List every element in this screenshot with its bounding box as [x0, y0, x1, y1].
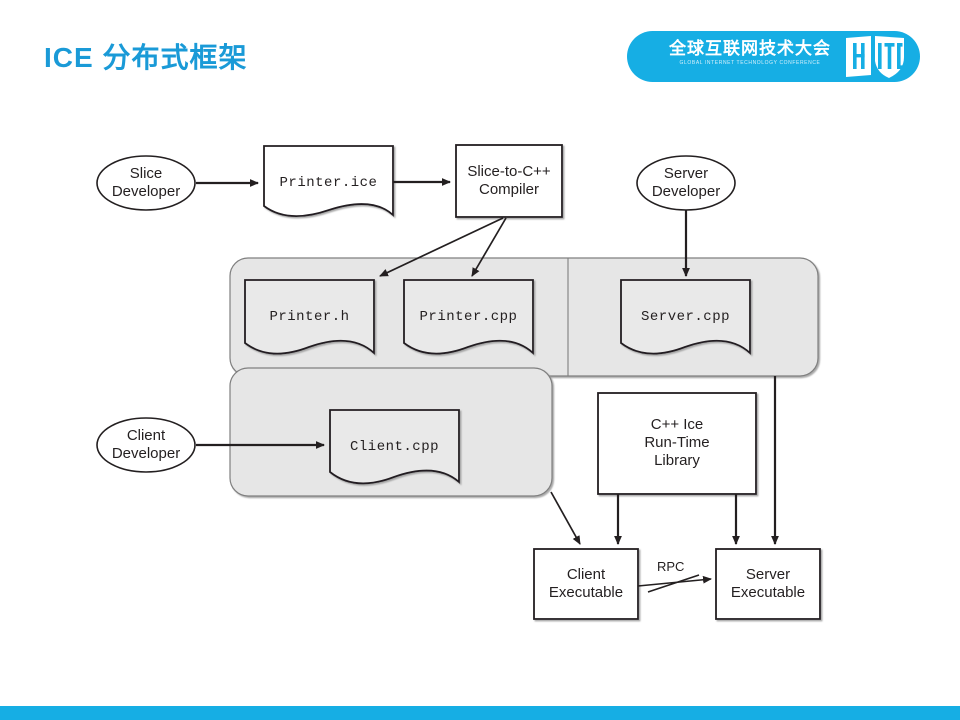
node-client-cpp — [330, 410, 459, 483]
node-server-cpp — [621, 280, 750, 354]
page-title: ICE 分布式框架 — [44, 36, 247, 76]
gitc-logo-icon — [844, 35, 906, 79]
slide-root: ICE 分布式框架 全球互联网技术大会 GLOBAL INTERNET TECH… — [0, 0, 960, 720]
edge-rpc-return — [648, 575, 699, 592]
diagram-vector-layer — [0, 100, 960, 700]
node-printer-cpp — [404, 280, 533, 354]
node-printer-h — [245, 280, 374, 354]
node-client-executable — [534, 549, 638, 619]
edge-clientgroup-clientexe — [551, 492, 580, 544]
banner-title-cn: 全球互联网技术大会 — [655, 38, 845, 59]
node-client-developer — [97, 418, 195, 472]
footer-accent-bar — [0, 706, 960, 720]
banner-text: 全球互联网技术大会 GLOBAL INTERNET TECHNOLOGY CON… — [655, 38, 845, 68]
edge-label-rpc: RPC — [657, 559, 684, 574]
node-server-executable — [716, 549, 820, 619]
banner-title-en: GLOBAL INTERNET TECHNOLOGY CONFERENCE — [655, 59, 845, 69]
conference-banner: 全球互联网技术大会 GLOBAL INTERNET TECHNOLOGY CON… — [627, 31, 920, 82]
node-slice-developer — [97, 156, 195, 210]
node-printer-ice — [264, 146, 393, 216]
ice-architecture-diagram: Slice Developer Printer.ice Slice-to-C++… — [0, 100, 960, 700]
node-server-developer — [637, 156, 735, 210]
node-ice-runtime — [598, 393, 756, 494]
node-slice-compiler — [456, 145, 562, 217]
